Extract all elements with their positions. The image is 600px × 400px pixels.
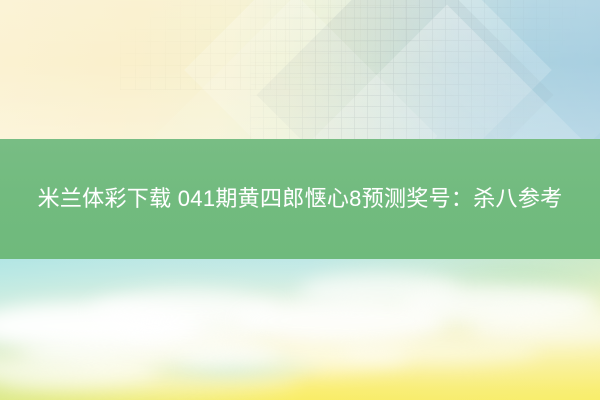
cyan-sky-patch <box>130 347 330 387</box>
banner-title: 米兰体彩下载 041期黄四郎惬心8预测奖号：杀八参考 <box>10 181 590 217</box>
top-decorative-band <box>0 0 600 140</box>
green-sky-patch <box>430 259 600 305</box>
title-band: 米兰体彩下载 041期黄四郎惬心8预测奖号：杀八参考 <box>0 139 600 259</box>
banner-image: 米兰体彩下载 041期黄四郎惬心8预测奖号：杀八参考 <box>0 0 600 400</box>
sky-footer-band <box>0 259 600 400</box>
grid-texture-overlay <box>120 0 420 90</box>
